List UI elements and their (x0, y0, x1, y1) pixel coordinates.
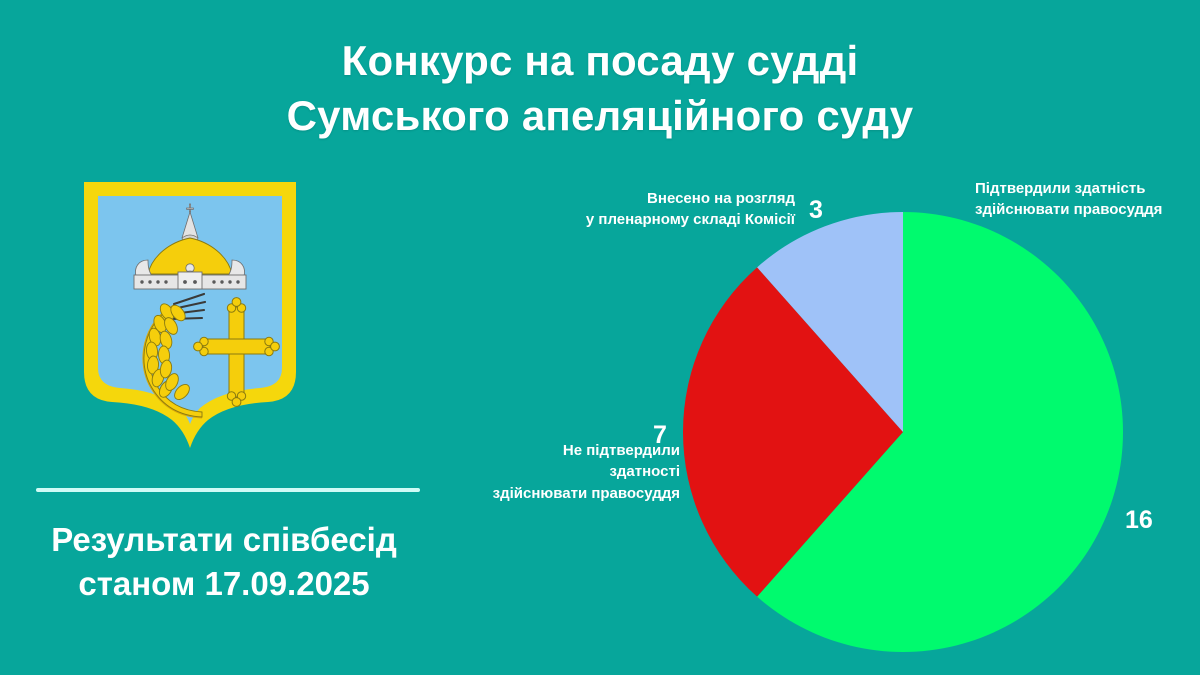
pie-chart (683, 212, 1123, 652)
divider (36, 488, 420, 492)
label-confirmed: Підтвердили здатність здійснювати правос… (975, 178, 1200, 221)
label-pending-line-1: Внесено на розгляд (555, 188, 795, 209)
title-line-2: Сумського апеляційного суду (0, 89, 1200, 144)
label-rejected-line-1: Не підтвердили (455, 440, 680, 461)
coat-of-arms-emblem (78, 176, 302, 454)
label-rejected-line-2: здатності (455, 461, 680, 482)
label-rejected-line-3: здійснювати правосуддя (455, 483, 680, 504)
value-pending: 3 (809, 198, 823, 223)
label-pending: Внесено на розгляд у пленарному складі К… (555, 188, 795, 231)
footer-caption: Результати співбесід станом 17.09.2025 (14, 518, 434, 606)
value-rejected: 7 (653, 423, 667, 448)
label-confirmed-line-2: здійснювати правосуддя (975, 199, 1200, 220)
value-confirmed: 16 (1125, 508, 1153, 533)
page-title: Конкурс на посаду судді Сумського апеляц… (0, 34, 1200, 143)
label-pending-line-2: у пленарному складі Комісії (555, 209, 795, 230)
caption-line-2: станом 17.09.2025 (14, 562, 434, 606)
label-confirmed-line-1: Підтвердили здатність (975, 178, 1200, 199)
label-rejected: Не підтвердили здатності здійснювати пра… (455, 440, 680, 504)
infographic-slide: Конкурс на посаду судді Сумського апеляц… (0, 0, 1200, 675)
title-line-1: Конкурс на посаду судді (342, 37, 859, 84)
caption-line-1: Результати співбесід (14, 518, 434, 562)
